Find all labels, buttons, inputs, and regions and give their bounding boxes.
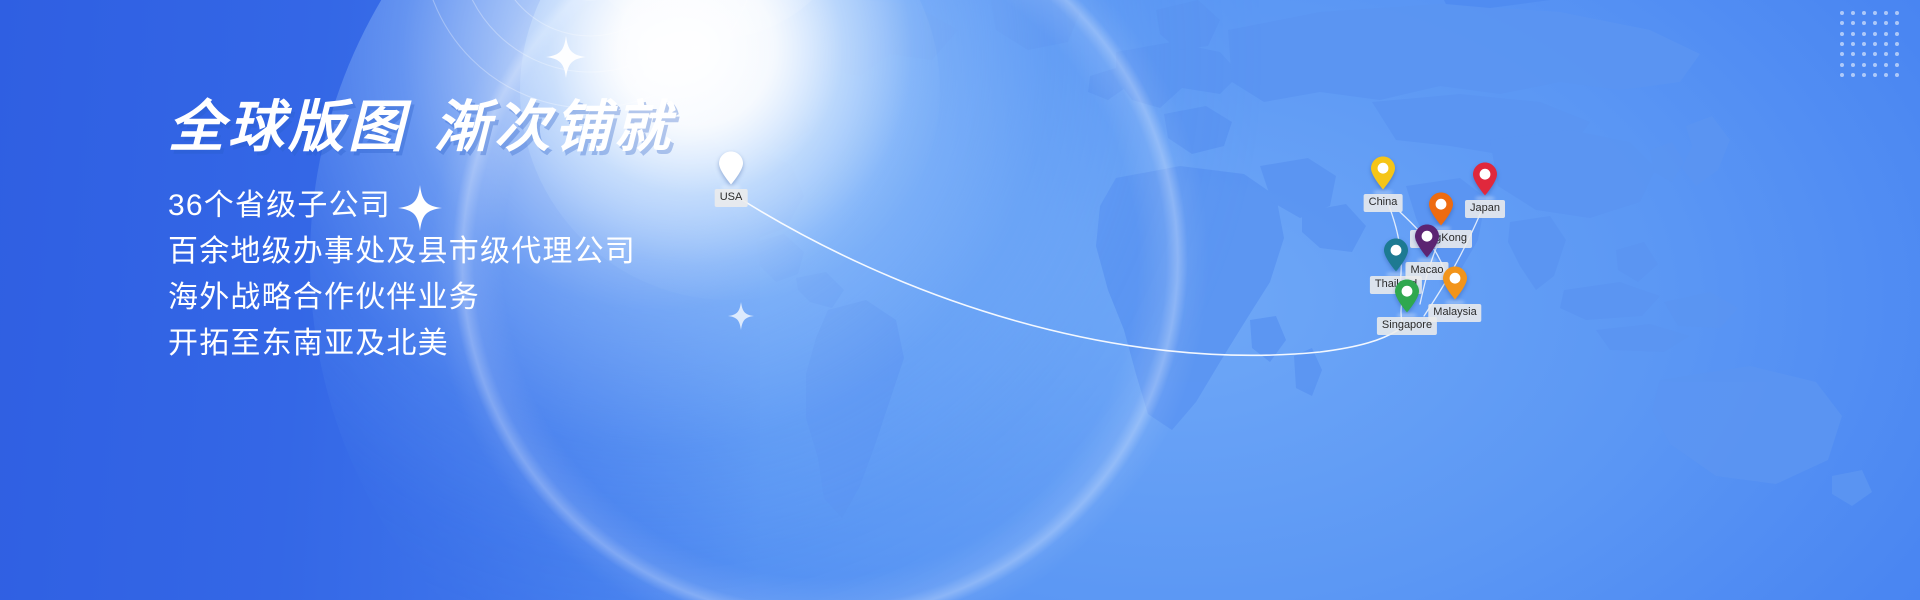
map-marker-singapore[interactable]: Singapore [1394, 279, 1420, 313]
location-pin-icon[interactable] [718, 151, 744, 185]
description-line-2: 百余地级办事处及县市级代理公司 [168, 229, 888, 275]
map-marker-label: Japan [1465, 200, 1505, 218]
page-title: 全球版图渐次铺就 [168, 96, 888, 159]
map-marker-usa[interactable]: USA [718, 151, 744, 185]
map-marker-hongkong[interactable]: HongKong [1428, 192, 1454, 226]
location-pin-icon[interactable] [1370, 156, 1396, 190]
map-marker-malaysia[interactable]: Malaysia [1442, 266, 1468, 300]
location-pin-icon[interactable] [1383, 238, 1409, 272]
location-pin-icon[interactable] [1394, 279, 1420, 313]
description-line-1: 36个省级子公司 [168, 183, 888, 229]
copy-block: 全球版图渐次铺就 36个省级子公司 百余地级办事处及县市级代理公司 海外战略合作… [168, 96, 888, 367]
description-line-3: 海外战略合作伙伴业务 [168, 275, 888, 321]
map-marker-label: Singapore [1377, 317, 1437, 335]
description-lines: 36个省级子公司 百余地级办事处及县市级代理公司 海外战略合作伙伴业务 开拓至东… [168, 183, 888, 368]
map-marker-thailand[interactable]: Thailand [1383, 238, 1409, 272]
map-marker-label: China [1364, 194, 1403, 212]
map-marker-japan[interactable]: Japan [1472, 162, 1498, 196]
location-pin-icon[interactable] [1414, 224, 1440, 258]
map-marker-china[interactable]: China [1370, 156, 1396, 190]
title-part-2: 渐次铺就 [434, 95, 674, 158]
location-pin-icon[interactable] [1472, 162, 1498, 196]
map-marker-label: USA [715, 189, 748, 207]
map-marker-macao[interactable]: Macao [1414, 224, 1440, 258]
description-line-4: 开拓至东南亚及北美 [168, 321, 888, 367]
global-map-banner: 全球版图渐次铺就 36个省级子公司 百余地级办事处及县市级代理公司 海外战略合作… [0, 0, 1920, 600]
title-part-1: 全球版图 [168, 95, 408, 158]
location-pin-icon[interactable] [1442, 266, 1468, 300]
location-pin-icon[interactable] [1428, 192, 1454, 226]
